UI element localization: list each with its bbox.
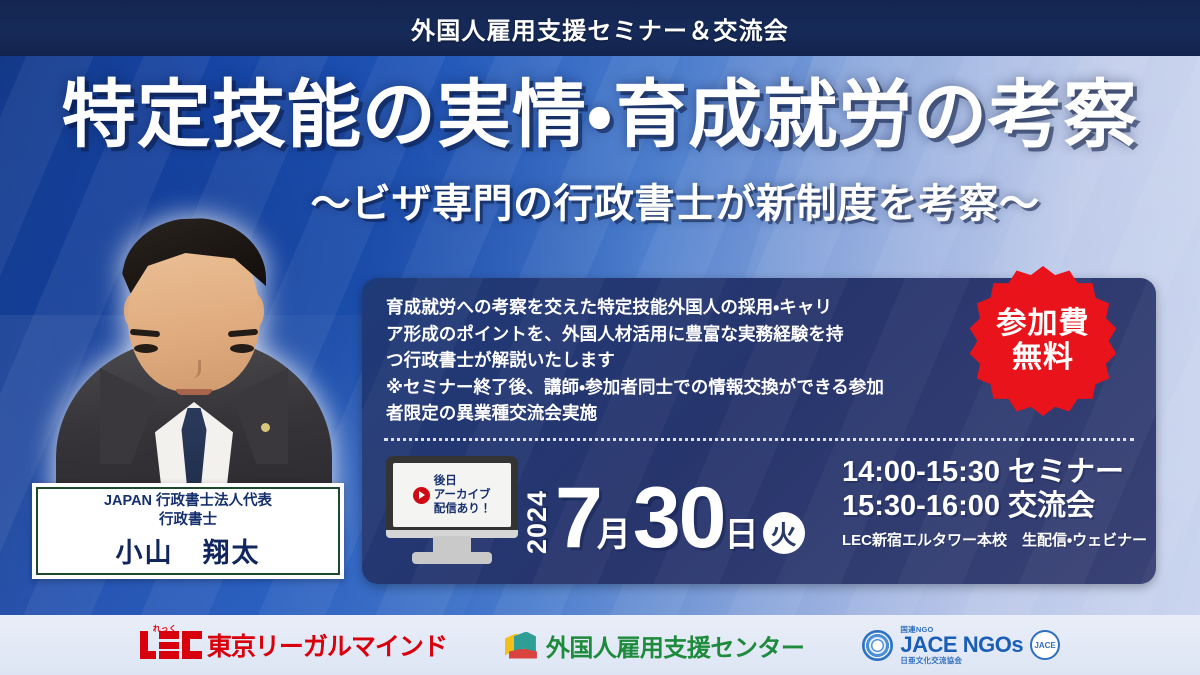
- date-day-unit: 日: [725, 518, 759, 552]
- jace-text-block: 国連NGO JACE NGOs 日亜文化交流協会: [900, 626, 1023, 664]
- badge-label-free: 無料: [1012, 341, 1074, 375]
- lec-wordmark: 東京リーガルマインド: [207, 627, 447, 663]
- description-line-5: 者限定の異業種交流会実施: [386, 400, 974, 427]
- event-category-text: 外国人雇用支援セミナー＆交流会: [411, 11, 789, 46]
- dotted-divider: [384, 438, 1134, 441]
- archive-line-2: アーカイブ: [434, 489, 491, 501]
- jace-bottom-label: 日亜文化交流協会: [900, 657, 1023, 665]
- support-center-wordmark: 外国人雇用支援センター: [546, 628, 805, 663]
- speaker-name-card: JAPAN 行政書士法人代表 行政書士 小山 翔太: [32, 483, 344, 579]
- archive-line-3: 配信あり！: [434, 503, 492, 515]
- seminar-banner: 外国人雇用支援セミナー＆交流会 特定技能の実情・育成就労の考察 〜ビザ専門の行政…: [0, 0, 1200, 675]
- speaker-role-line2: 行政書士: [159, 511, 217, 530]
- lec-letter-l-icon: [140, 631, 156, 659]
- lec-logomark-icon: れっく: [140, 631, 202, 659]
- archive-monitor-icon: 後日 アーカイブ 配信あり！: [386, 456, 518, 566]
- schedule-block: 14:00-15:30 セミナー 15:30-16:00 交流会 LEC新宿エル…: [842, 455, 1147, 550]
- speaker-card-inner: JAPAN 行政書士法人代表 行政書士 小山 翔太: [36, 487, 340, 575]
- photo-mouth: [176, 389, 212, 395]
- date-weekday-badge: 火: [763, 512, 805, 554]
- play-icon: [413, 487, 430, 504]
- seminar-description: 育成就労への考察を交えた特定技能外国人の採用・キャリ ア形成のポイントを、外国人…: [386, 294, 974, 427]
- description-line-4: ※セミナー終了後、講師・参加者同士での情報交換ができる参加: [386, 374, 974, 401]
- schedule-row-seminar: 14:00-15:30 セミナー: [842, 455, 1147, 489]
- date-year: 2024: [524, 466, 551, 554]
- event-date: 2024 7 月 30 日 火: [524, 452, 805, 558]
- page-title: 特定技能の実情・育成就労の考察: [0, 76, 1200, 154]
- venue-text: LEC新宿エルタワー本校 生配信・ウェビナー: [842, 529, 1147, 550]
- footer-logo-bar: れっく 東京リーガルマインド 外国人雇用支援センター 国連NGO JACE NG…: [0, 615, 1200, 675]
- page-subtitle: 〜ビザ専門の行政書士が新制度を考察〜: [0, 182, 1200, 226]
- badge-label-fee: 参加費: [997, 307, 1090, 341]
- photo-eyebrow-right: [130, 329, 160, 338]
- top-banner-bar: 外国人雇用支援セミナー＆交流会: [0, 0, 1200, 56]
- monitor-screen: 後日 アーカイブ 配信あり！: [393, 463, 511, 527]
- photo-nose: [187, 360, 201, 378]
- book-icon: [505, 632, 539, 659]
- lec-furigana: れっく: [153, 623, 177, 634]
- jace-seal-icon: JACE: [1030, 630, 1060, 660]
- un-emblem-icon: [862, 630, 893, 661]
- photo-eye-right: [134, 344, 158, 353]
- speaker-photo: [44, 198, 344, 528]
- archive-line-1: 後日: [434, 475, 457, 487]
- speaker-name: 小山 翔太: [116, 531, 261, 570]
- description-line-3: つ行政書士が解説いたします: [386, 347, 974, 374]
- lec-logo: れっく 東京リーガルマインド: [140, 627, 447, 663]
- date-month-unit: 月: [597, 518, 631, 552]
- date-day-number: 30: [633, 479, 725, 558]
- jace-wordmark: JACE NGOs: [900, 633, 1023, 656]
- monitor-frame: 後日 アーカイブ 配信あり！: [386, 456, 518, 534]
- support-center-logo: 外国人雇用支援センター: [505, 628, 805, 663]
- lec-letter-c-icon: [182, 631, 202, 659]
- date-month-number: 7: [555, 479, 601, 558]
- monitor-stand-base: [412, 552, 492, 564]
- description-line-1: 育成就労への考察を交えた特定技能外国人の採用・キャリ: [386, 294, 974, 321]
- photo-lapel-pin: [261, 423, 270, 432]
- schedule-row-networking: 15:30-16:00 交流会: [842, 489, 1147, 523]
- description-line-2: ア形成のポイントを、外国人材活用に豊富な実務経験を持: [386, 321, 974, 348]
- photo-eye-left: [230, 344, 254, 353]
- photo-eyebrow-left: [228, 329, 258, 338]
- jace-ngos-logo: 国連NGO JACE NGOs 日亜文化交流協会 JACE: [862, 626, 1060, 664]
- lec-letter-e-icon: [159, 631, 179, 659]
- archive-text: 後日 アーカイブ 配信あり！: [434, 474, 492, 516]
- speaker-role-line1: JAPAN 行政書士法人代表: [104, 492, 272, 511]
